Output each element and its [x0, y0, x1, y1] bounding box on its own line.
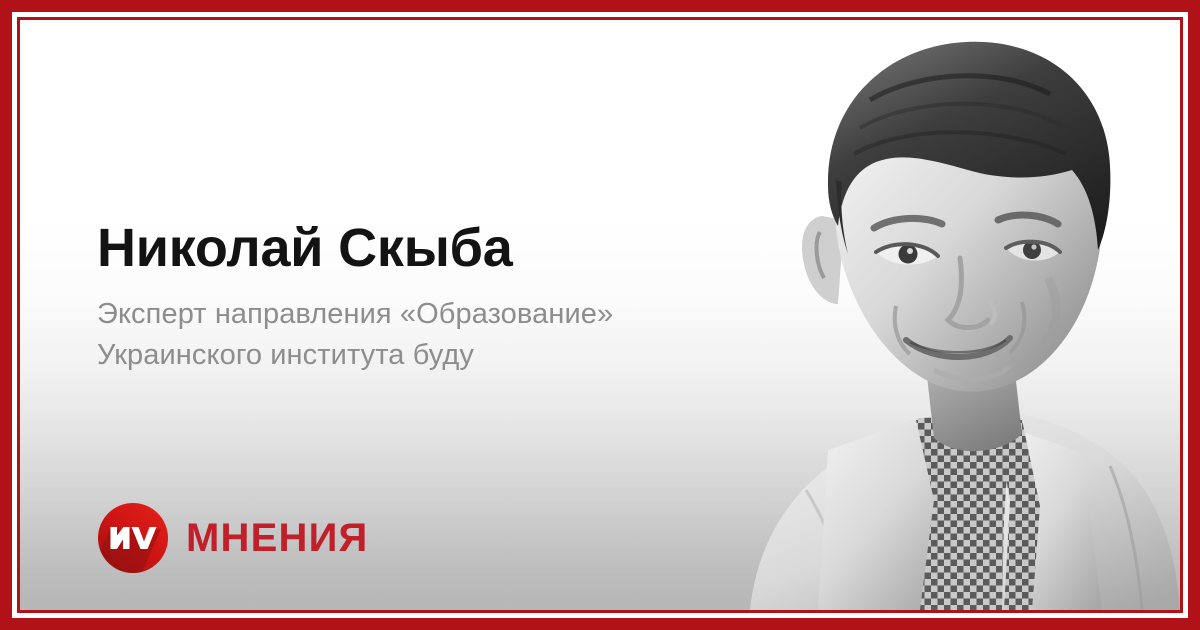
person-info: Николай Скыба Эксперт направления «Образ… — [97, 220, 797, 376]
brand-lockup[interactable]: МНЕНИЯ — [98, 503, 368, 573]
neck-shape — [924, 346, 1022, 451]
nose-shape — [948, 258, 988, 328]
checkered-shirt — [906, 416, 1028, 610]
jacket-shape — [750, 412, 1180, 610]
face-shape — [834, 58, 1103, 392]
person-role-line-2: Украинского института буду — [97, 335, 797, 376]
card-stage: Николай Скыба Эксперт направления «Образ… — [20, 20, 1180, 610]
brand-word[interactable]: МНЕНИЯ — [186, 518, 368, 558]
right-eye — [1023, 241, 1041, 259]
mouth-shape — [906, 338, 1010, 357]
share-card: Николай Скыба Эксперт направления «Образ… — [0, 0, 1200, 630]
person-role: Эксперт направления «Образование» Украин… — [97, 294, 797, 376]
ear-shape — [802, 216, 844, 304]
nv-circle-logo-icon[interactable] — [98, 503, 168, 573]
page-title: Николай Скыба — [97, 220, 797, 277]
left-eye — [899, 245, 918, 264]
hair-shape — [828, 42, 1110, 250]
person-role-line-1: Эксперт направления «Образование» — [97, 294, 797, 335]
